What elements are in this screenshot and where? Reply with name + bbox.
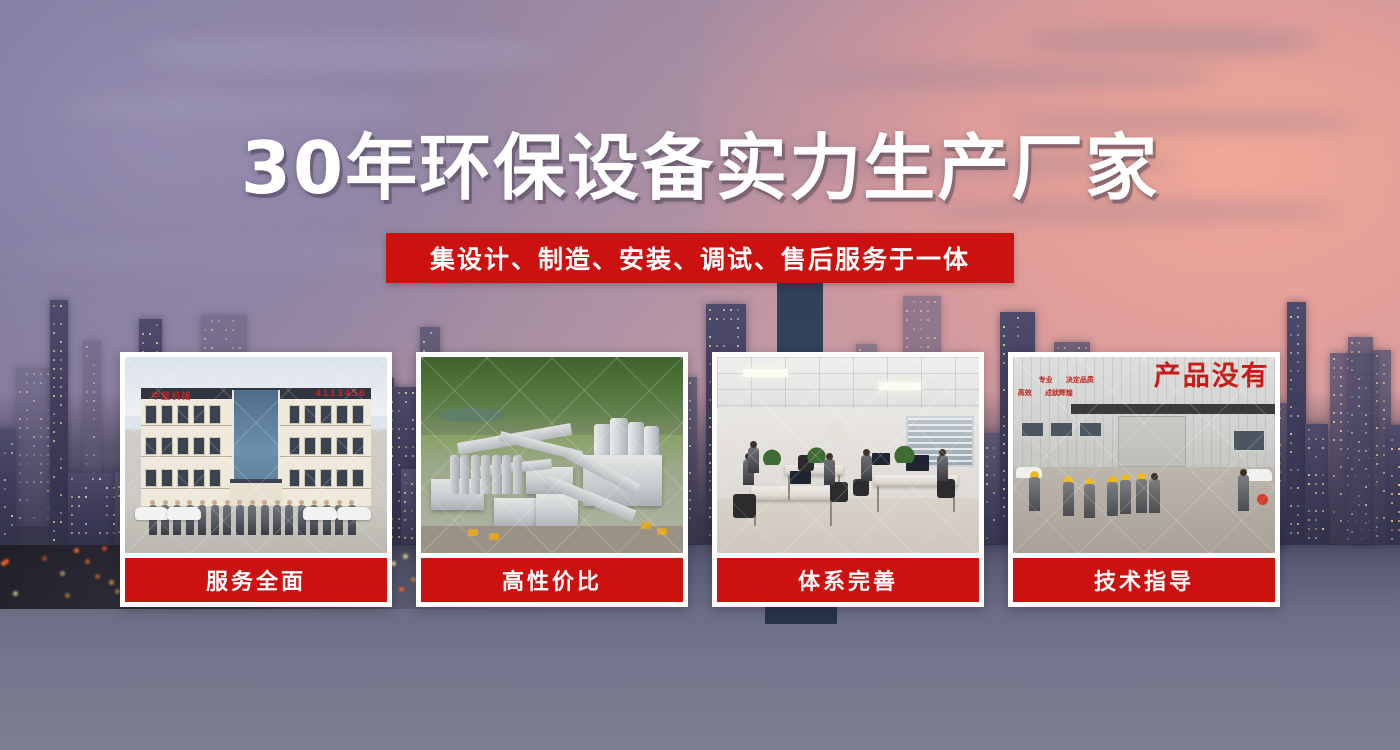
process-tower	[513, 455, 522, 494]
window-light	[33, 400, 35, 402]
card-photo-plant-aerial	[421, 357, 683, 553]
window-light	[1322, 492, 1324, 494]
window-light	[1398, 520, 1400, 522]
window-light	[1398, 484, 1400, 486]
excavator	[468, 529, 478, 536]
window-light	[1398, 511, 1400, 513]
window-light	[1391, 475, 1393, 477]
staff-member	[285, 505, 293, 535]
window-light	[40, 472, 42, 474]
window-light	[47, 481, 49, 483]
window-light	[40, 481, 42, 483]
window-light	[60, 305, 62, 307]
window-light	[86, 391, 88, 393]
office-chair	[937, 479, 955, 499]
window-light	[26, 373, 28, 375]
window-light	[1398, 466, 1400, 468]
window-light	[1308, 447, 1310, 449]
card-photo-headquarters: 中蓝机械 4113456	[125, 357, 387, 553]
window-light	[93, 382, 95, 384]
window-light	[47, 445, 49, 447]
window-light	[1297, 334, 1299, 336]
window-light	[1365, 423, 1367, 425]
window-light	[920, 346, 922, 348]
window-light	[1297, 523, 1299, 525]
window-light	[53, 323, 55, 325]
window-light	[211, 329, 213, 331]
card-caption-bar: 高性价比	[421, 558, 683, 602]
window-light	[1315, 528, 1317, 530]
window-light	[60, 404, 62, 406]
window-light	[920, 328, 922, 330]
window-light	[709, 318, 711, 320]
window-light	[1365, 513, 1367, 515]
window-light	[1351, 513, 1353, 515]
window-light	[47, 418, 49, 420]
window-light	[927, 346, 929, 348]
window-light	[1333, 421, 1335, 423]
window-light	[53, 359, 55, 361]
window-light	[106, 496, 108, 498]
window-light	[1365, 387, 1367, 389]
window-light	[1290, 505, 1292, 507]
window-light	[920, 319, 922, 321]
window-light	[78, 496, 80, 498]
window-light	[913, 301, 915, 303]
window-light	[47, 373, 49, 375]
window-light	[1358, 405, 1360, 407]
window-light	[1351, 414, 1353, 416]
window-light	[1290, 352, 1292, 354]
process-tower	[492, 455, 501, 494]
window-light	[19, 463, 21, 465]
window-light	[204, 329, 206, 331]
site-road	[421, 526, 683, 553]
window-light	[1340, 439, 1342, 441]
window-light	[1333, 412, 1335, 414]
window-light	[71, 505, 73, 507]
window-light	[232, 347, 234, 349]
window-light	[1322, 510, 1324, 512]
cement-silo	[628, 422, 644, 457]
window-light	[1351, 342, 1353, 344]
parked-car	[167, 507, 201, 520]
shore-light	[42, 556, 47, 561]
window-light	[1365, 450, 1367, 452]
window-light	[1340, 394, 1342, 396]
window-light	[53, 350, 55, 352]
production-plant	[421, 357, 683, 553]
staff-member	[223, 505, 231, 535]
window-light	[1333, 376, 1335, 378]
window-light	[1340, 448, 1342, 450]
window-light	[1333, 475, 1335, 477]
window-light	[859, 349, 861, 351]
window-light	[1398, 448, 1400, 450]
window-light	[60, 521, 62, 523]
window-light	[1290, 469, 1292, 471]
window-light	[26, 499, 28, 501]
window-light	[1391, 502, 1393, 504]
window-light	[737, 345, 739, 347]
window-light	[1391, 493, 1393, 495]
window-light	[906, 319, 908, 321]
window-light	[19, 481, 21, 483]
window-light	[93, 373, 95, 375]
process-tower	[502, 455, 511, 494]
window-light	[1290, 442, 1292, 444]
window-light	[1383, 472, 1385, 474]
window-light	[1017, 326, 1019, 328]
window-light	[1315, 438, 1317, 440]
window-light	[232, 320, 234, 322]
monitor	[872, 453, 890, 465]
shore-light	[109, 580, 114, 585]
window-light	[1308, 510, 1310, 512]
window-light	[913, 310, 915, 312]
window-light	[60, 341, 62, 343]
window-light	[225, 329, 227, 331]
window-light	[1322, 438, 1324, 440]
parked-car	[303, 507, 337, 520]
window-light	[920, 310, 922, 312]
window-light	[86, 454, 88, 456]
window-light	[1315, 456, 1317, 458]
window-light	[1064, 347, 1066, 349]
window-light	[1333, 511, 1335, 513]
window-light	[927, 337, 929, 339]
window-light	[1358, 495, 1360, 497]
window-light	[11, 515, 13, 517]
window-light	[60, 323, 62, 325]
window-light	[99, 532, 101, 534]
window-light	[47, 427, 49, 429]
window-light	[106, 532, 108, 534]
page-title: 30年环保设备实力生产厂家	[0, 129, 1400, 208]
window-light	[1333, 394, 1335, 396]
window-light	[1358, 459, 1360, 461]
window-light	[906, 310, 908, 312]
window-light	[53, 431, 55, 433]
card-caption-label: 体系完善	[798, 564, 898, 596]
window-light	[1365, 414, 1367, 416]
window-light	[40, 382, 42, 384]
window-light	[1340, 376, 1342, 378]
window-light	[1376, 535, 1378, 537]
office-worker	[937, 455, 948, 481]
window-light	[1340, 403, 1342, 405]
potted-plant	[890, 445, 919, 463]
window-light	[71, 478, 73, 480]
window-light	[71, 532, 73, 534]
staff-member	[248, 505, 256, 535]
window-light	[1340, 466, 1342, 468]
hero-banner: 30年环保设备实力生产厂家 集设计、制造、安装、调试、售后服务于一体 中蓝机械 …	[0, 0, 1400, 750]
shore-light	[4, 559, 9, 564]
staff-member	[211, 505, 219, 535]
staff-member	[261, 505, 269, 535]
window-light	[71, 523, 73, 525]
window-light	[1290, 406, 1292, 408]
window-light	[1358, 387, 1360, 389]
window-light	[225, 338, 227, 340]
window-light	[1333, 439, 1335, 441]
window-light	[1398, 493, 1400, 495]
window-light	[93, 364, 95, 366]
parked-car	[337, 507, 371, 520]
window-light	[26, 463, 28, 465]
office-chair	[733, 494, 757, 518]
feature-card-service[interactable]: 中蓝机械 4113456 服务全面	[120, 352, 392, 607]
skyscraper	[1388, 425, 1400, 544]
window-light	[4, 452, 6, 454]
window-light	[4, 488, 6, 490]
window-light	[1383, 490, 1385, 492]
window-light	[40, 418, 42, 420]
window-light	[60, 512, 62, 514]
staff-member	[236, 505, 244, 535]
window-light	[1351, 369, 1353, 371]
parked-car	[135, 507, 169, 520]
window-light	[1351, 351, 1353, 353]
window-light	[40, 454, 42, 456]
window-light	[19, 418, 21, 420]
window-light	[47, 490, 49, 492]
worker-lineup	[1013, 357, 1275, 553]
window-light	[1376, 427, 1378, 429]
window-light	[716, 318, 718, 320]
window-light	[1322, 483, 1324, 485]
window-light	[1340, 430, 1342, 432]
window-light	[60, 359, 62, 361]
window-light	[1340, 493, 1342, 495]
window-light	[19, 391, 21, 393]
card-caption-bar: 服务全面	[125, 558, 387, 602]
window-light	[1391, 439, 1393, 441]
window-light	[1297, 370, 1299, 372]
office-furniture	[717, 357, 979, 553]
window-light	[47, 463, 49, 465]
window-light	[71, 514, 73, 516]
window-light	[60, 494, 62, 496]
subtitle-banner: 集设计、制造、安装、调试、售后服务于一体	[386, 233, 1014, 283]
window-light	[93, 400, 95, 402]
window-light	[211, 347, 213, 349]
window-light	[1365, 432, 1367, 434]
skyscraper	[68, 473, 118, 544]
window-light	[1383, 517, 1385, 519]
window-light	[1383, 364, 1385, 366]
process-tower	[460, 455, 469, 494]
window-light	[1383, 454, 1385, 456]
building-sign-text: 中蓝机械	[151, 389, 191, 402]
window-light	[1383, 400, 1385, 402]
window-light	[1308, 438, 1310, 440]
cement-silo	[644, 426, 660, 457]
window-light	[737, 309, 739, 311]
window-light	[709, 336, 711, 338]
process-tower	[471, 455, 480, 494]
window-light	[1351, 360, 1353, 362]
feature-card-training[interactable]: 产品没有 专业高效决定品质成就辉煌 技术指导	[1008, 352, 1280, 607]
window-light	[19, 517, 21, 519]
window-light	[19, 427, 21, 429]
window-light	[1290, 388, 1292, 390]
window-light	[1308, 537, 1310, 539]
window-light	[1351, 468, 1353, 470]
window-light	[1297, 514, 1299, 516]
window-light	[423, 341, 425, 343]
feature-card-system[interactable]: 体系完善	[712, 352, 984, 607]
window-light	[1376, 517, 1378, 519]
office-chair	[853, 479, 869, 497]
window-light	[1376, 481, 1378, 483]
window-light	[53, 521, 55, 523]
window-light	[60, 386, 62, 388]
window-light	[1376, 463, 1378, 465]
window-light	[927, 301, 929, 303]
window-light	[1340, 412, 1342, 414]
window-light	[33, 436, 35, 438]
window-light	[1003, 335, 1005, 337]
window-light	[1290, 487, 1292, 489]
monitor	[790, 471, 811, 485]
window-light	[53, 305, 55, 307]
window-light	[1391, 529, 1393, 531]
office-chair	[830, 482, 848, 502]
window-light	[93, 454, 95, 456]
window-light	[1340, 421, 1342, 423]
shore-light	[60, 571, 65, 576]
worker	[1120, 480, 1131, 514]
window-light	[1297, 325, 1299, 327]
window-light	[156, 342, 158, 344]
window-light	[204, 338, 206, 340]
window-light	[730, 318, 732, 320]
shore-light	[65, 593, 70, 598]
card-caption-label: 高性价比	[502, 564, 602, 596]
window-light	[60, 467, 62, 469]
window-light	[93, 436, 95, 438]
window-light	[53, 395, 55, 397]
window-light	[1358, 504, 1360, 506]
window-light	[142, 342, 144, 344]
window-light	[85, 523, 87, 525]
window-light	[53, 386, 55, 388]
window-light	[33, 382, 35, 384]
shore-light	[85, 559, 90, 564]
window-light	[1351, 396, 1353, 398]
window-light	[93, 391, 95, 393]
window-light	[1358, 351, 1360, 353]
cement-silo	[610, 418, 628, 457]
shore-light	[95, 574, 100, 579]
window-light	[1315, 492, 1317, 494]
window-light	[1308, 474, 1310, 476]
skyscraper	[1287, 302, 1305, 545]
window-light	[86, 463, 88, 465]
window-light	[53, 368, 55, 370]
window-light	[1017, 335, 1019, 337]
window-light	[1376, 526, 1378, 528]
process-tower	[450, 455, 459, 494]
skyscraper	[50, 300, 69, 545]
window-light	[53, 332, 55, 334]
process-tower	[481, 455, 490, 494]
window-light	[927, 310, 929, 312]
worker	[1029, 477, 1040, 511]
window-light	[26, 418, 28, 420]
shore-light	[13, 591, 18, 596]
window-light	[1322, 528, 1324, 530]
window-light	[19, 472, 21, 474]
window-light	[40, 427, 42, 429]
card-caption-bar: 技术指导	[1013, 558, 1275, 602]
window-light	[47, 409, 49, 411]
window-light	[1333, 358, 1335, 360]
window-light	[1351, 432, 1353, 434]
skyscraper	[1348, 337, 1374, 544]
window-light	[53, 377, 55, 379]
card-caption-label: 服务全面	[206, 564, 306, 596]
supervisor	[1238, 475, 1249, 511]
window-light	[1297, 316, 1299, 318]
window-light	[85, 487, 87, 489]
office-worker	[861, 455, 872, 481]
window-light	[1315, 537, 1317, 539]
window-light	[93, 418, 95, 420]
window-light	[1290, 433, 1292, 435]
window-light	[33, 454, 35, 456]
feature-card-value[interactable]: 高性价比	[416, 352, 688, 607]
window-light	[60, 458, 62, 460]
window-light	[1383, 427, 1385, 429]
window-light	[1398, 529, 1400, 531]
window-light	[1290, 379, 1292, 381]
window-light	[1322, 447, 1324, 449]
window-light	[156, 324, 158, 326]
window-light	[913, 328, 915, 330]
window-light	[723, 345, 725, 347]
window-light	[86, 400, 88, 402]
window-light	[1003, 344, 1005, 346]
window-light	[920, 337, 922, 339]
window-light	[730, 309, 732, 311]
feature-card-row: 中蓝机械 4113456 服务全面 高性价比	[120, 352, 1280, 607]
window-light	[1017, 317, 1019, 319]
skyscraper	[1305, 424, 1328, 544]
window-light	[1085, 347, 1087, 349]
window-light	[60, 422, 62, 424]
shore-light	[102, 546, 107, 551]
window-light	[430, 332, 432, 334]
window-light	[1383, 418, 1385, 420]
window-light	[40, 436, 42, 438]
window-light	[1365, 504, 1367, 506]
window-light	[60, 377, 62, 379]
window-light	[211, 320, 213, 322]
window-light	[71, 496, 73, 498]
skyscraper	[16, 368, 55, 526]
window-light	[1365, 468, 1367, 470]
window-light	[239, 347, 241, 349]
window-light	[1308, 483, 1310, 485]
window-light	[1376, 454, 1378, 456]
window-light	[1315, 519, 1317, 521]
window-light	[232, 329, 234, 331]
window-light	[93, 409, 95, 411]
window-light	[716, 345, 718, 347]
